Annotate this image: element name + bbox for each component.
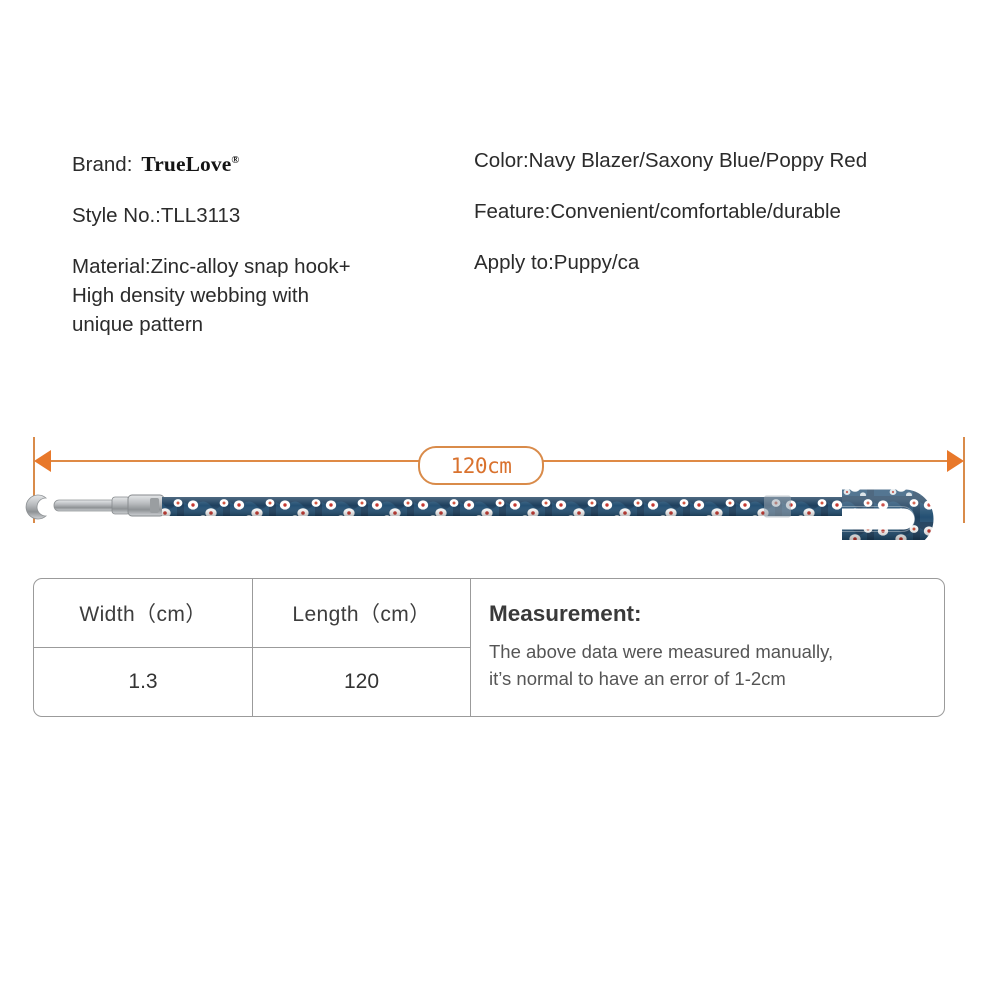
dimension-arrow-right-icon [947, 450, 964, 472]
product-image-leash [0, 470, 1000, 540]
table-header-length: Length（cm） [253, 579, 470, 648]
table-column-width: Width（cm） 1.3 [34, 579, 253, 716]
spec-column-right: Color:Navy Blazer/Saxony Blue/Poppy Red … [474, 146, 974, 299]
measurement-note-panel: Measurement: The above data were measure… [471, 579, 944, 716]
feature-text: Feature:Convenient/comfortable/durable [474, 197, 974, 226]
measurement-title: Measurement: [489, 601, 944, 627]
brand-label: Brand: [72, 150, 132, 179]
table-cell-width-value: 1.3 [34, 648, 252, 716]
style-no-text: Style No.:TLL3113 [72, 201, 462, 230]
material-text: Material:Zinc-alloy snap hook+ High dens… [72, 252, 462, 339]
measurement-note-line1: The above data were measured manually, [489, 638, 944, 665]
registered-mark-icon: ® [231, 155, 239, 166]
apply-to-text: Apply to:Puppy/ca [474, 248, 974, 277]
brand-logo: TrueLove® [141, 146, 239, 179]
dimension-arrow-left-icon [34, 450, 51, 472]
measurement-note-line2: it’s normal to have an error of 1-2cm [489, 665, 944, 692]
slider-keeper-icon [764, 496, 791, 518]
snap-hook-icon [26, 495, 164, 519]
table-column-length: Length（cm） 120 [253, 579, 471, 716]
brand-row: Brand: TrueLove® [72, 146, 462, 179]
handle-loop [842, 499, 924, 539]
product-spec-page: Brand: TrueLove® Style No.:TLL3113 Mater… [0, 0, 1000, 1000]
measurement-table: Width（cm） 1.3 Length（cm） 120 Measurement… [33, 578, 945, 717]
table-cell-length-value: 120 [253, 648, 470, 716]
brand-name: TrueLove [141, 152, 231, 176]
spec-column-left: Brand: TrueLove® Style No.:TLL3113 Mater… [72, 146, 462, 339]
dimension-line [40, 460, 958, 462]
webbing-strap [162, 496, 842, 518]
color-text: Color:Navy Blazer/Saxony Blue/Poppy Red [474, 146, 974, 175]
table-header-width: Width（cm） [34, 579, 252, 648]
